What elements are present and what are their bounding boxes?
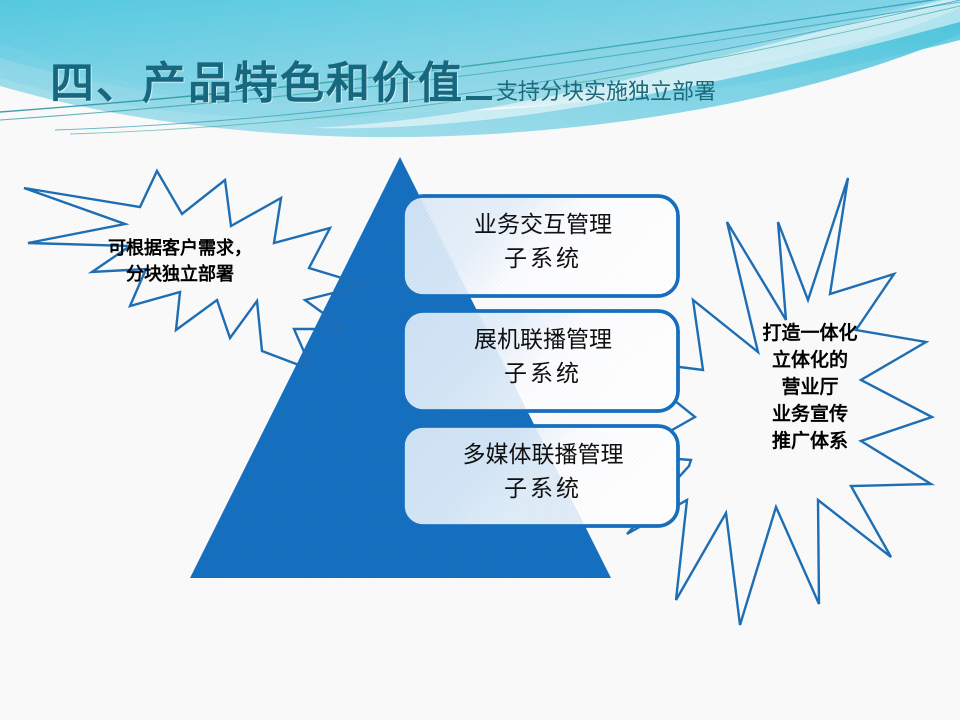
box-exhibition-broadcast[interactable] (403, 311, 678, 411)
box-business-interaction[interactable] (403, 196, 678, 296)
box-multimedia-broadcast[interactable] (403, 426, 678, 526)
slide-canvas: 四、产品特色和价值 支持分块实施独立部署 (0, 0, 960, 720)
pyramid-diagram (0, 0, 960, 720)
